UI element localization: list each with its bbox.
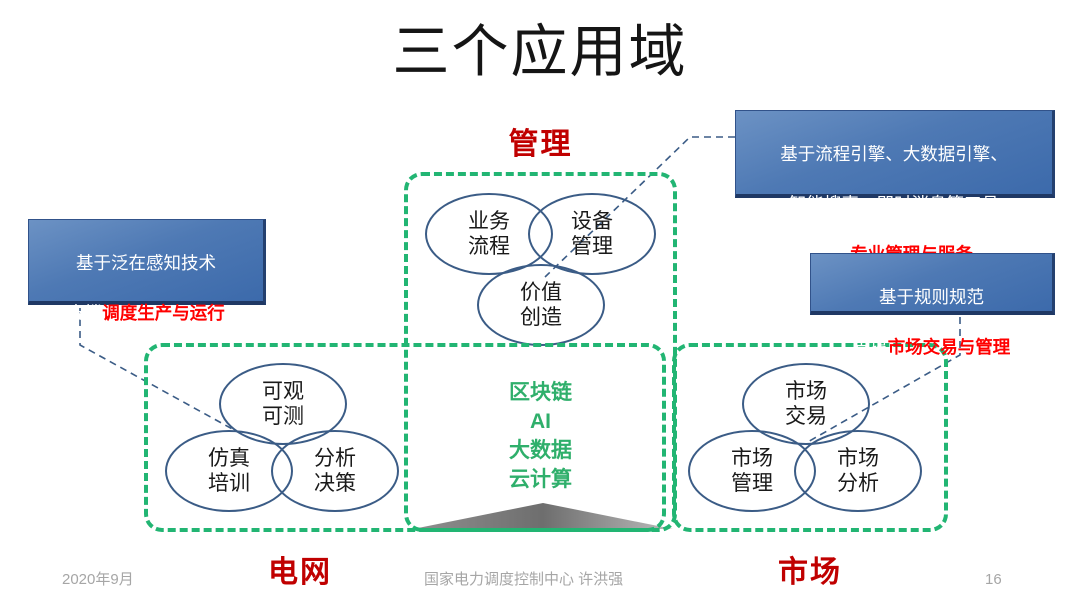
footer-date: 2020年9月 — [62, 570, 134, 590]
domain-label-market: 市场 — [710, 556, 910, 590]
domain-label-grid: 电网 — [200, 556, 400, 590]
callout-rules-prefix: 支撑 — [853, 337, 888, 357]
domain-label-management: 管理 — [404, 128, 677, 162]
callout-sensing-prefix: 支撑 — [67, 303, 102, 323]
ellipse-business-process-label: 业务 流程 — [468, 209, 510, 259]
ellipse-analysis-decision-label: 分析 决策 — [314, 446, 356, 496]
footer-source: 国家电力调度控制中心 许洪强 — [424, 570, 623, 590]
tech-stack-text: 区块链 AI 大数据 云计算 — [404, 378, 677, 494]
ellipse-simulation-training-label: 仿真 培训 — [208, 446, 250, 496]
ellipse-market-analysis: 市场 分析 — [794, 430, 922, 512]
ellipse-observable-measurable-label: 可观 可测 — [262, 379, 304, 429]
ellipse-value-creation: 价值 创造 — [477, 264, 605, 346]
callout-sensing-highlight: 调度生产与运行 — [102, 303, 225, 323]
ellipse-market-trading-label: 市场 交易 — [785, 379, 827, 429]
ellipse-value-creation-label: 价值 创造 — [520, 280, 562, 330]
ellipse-analysis-decision: 分析 决策 — [271, 430, 399, 512]
callout-sensing: 基于泛在感知技术 支撑调度生产与运行 — [28, 219, 266, 305]
callout-process: 基于流程引擎、大数据引擎、 智能搜索、即时消息等工具 支撑专业管理与服务 — [735, 110, 1055, 198]
slide-canvas: 三个应用域 管理 业务 流程 设备 管理 价值 创造 电网 可观 可测 — [0, 0, 1080, 608]
ellipse-equipment-management: 设备 管理 — [528, 193, 656, 275]
callout-rules-line1: 基于规则规范 — [879, 287, 984, 307]
callout-rules-highlight: 市场交易与管理 — [888, 337, 1011, 357]
footer-page-number: 16 — [985, 570, 1002, 590]
callout-process-line2: 智能搜索、即时消息等工具 — [789, 194, 999, 214]
callout-sensing-line1: 基于泛在感知技术 — [76, 253, 216, 273]
callout-rules: 基于规则规范 支撑市场交易与管理 — [810, 253, 1055, 315]
ellipse-market-management-label: 市场 管理 — [731, 446, 773, 496]
ellipse-equipment-management-label: 设备 管理 — [571, 209, 613, 259]
page-title: 三个应用域 — [0, 18, 1080, 88]
callout-process-line1: 基于流程引擎、大数据引擎、 — [780, 144, 1008, 164]
ellipse-market-analysis-label: 市场 分析 — [837, 446, 879, 496]
